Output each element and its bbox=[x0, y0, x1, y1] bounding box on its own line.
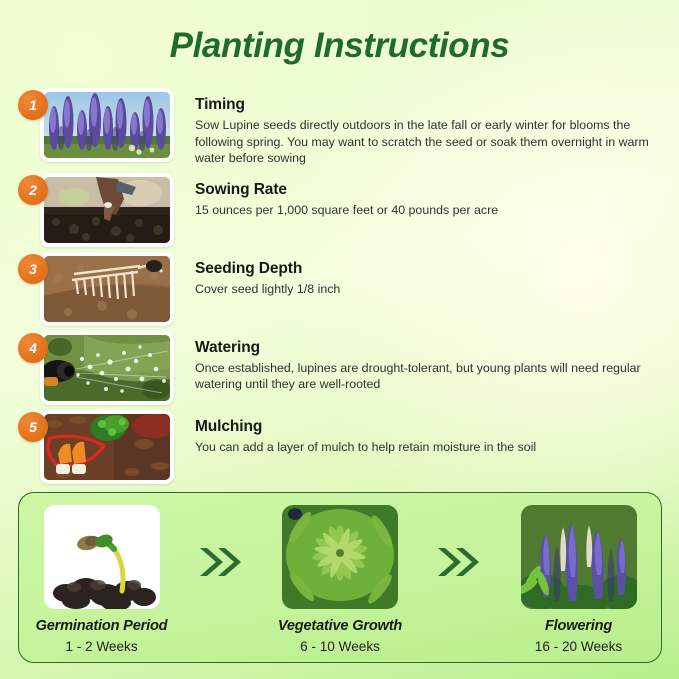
step-number-badge: 4 bbox=[18, 333, 48, 363]
step-heading: Sowing Rate bbox=[195, 181, 679, 199]
step-thumbnail-frame: 3 bbox=[40, 252, 174, 326]
step-body: You can add a layer of mulch to help ret… bbox=[195, 439, 665, 456]
step-thumbnail-frame: 4 bbox=[40, 331, 174, 405]
step-body: 15 ounces per 1,000 square feet or 40 po… bbox=[195, 202, 665, 219]
step-item-timing: 1 bbox=[0, 88, 679, 167]
step-body: Sow Lupine seeds directly outdoors in th… bbox=[195, 117, 665, 167]
rake-on-soil-photo bbox=[44, 256, 170, 322]
hand-sowing-seed-in-soil-photo bbox=[44, 177, 170, 243]
timeline-stage-duration: 16 - 20 Weeks bbox=[496, 639, 661, 654]
step-text-block: Watering Once established, lupines are d… bbox=[174, 331, 679, 393]
step-thumbnail-frame: 5 bbox=[40, 410, 174, 484]
step-item-watering: 4 bbox=[0, 331, 679, 405]
step-text-block: Seeding Depth Cover seed lightly 1/8 inc… bbox=[174, 252, 679, 298]
step-item-seeding-depth: 3 bbox=[0, 252, 679, 326]
step-number-badge: 2 bbox=[18, 175, 48, 205]
step-thumbnail-frame: 1 bbox=[40, 88, 174, 162]
step-heading: Watering bbox=[195, 339, 679, 357]
step-heading: Mulching bbox=[195, 418, 679, 436]
purple-lupine-blooms-photo bbox=[521, 505, 637, 609]
step-heading: Timing bbox=[195, 96, 679, 114]
timeline-stage-label: Vegetative Growth bbox=[258, 618, 423, 634]
step-text-block: Timing Sow Lupine seeds directly outdoor… bbox=[174, 88, 679, 167]
step-number-badge: 1 bbox=[18, 90, 48, 120]
timeline-stage-label: Germination Period bbox=[19, 618, 184, 634]
timeline-stage-duration: 6 - 10 Weeks bbox=[258, 639, 423, 654]
step-thumbnail-frame: 2 bbox=[40, 173, 174, 247]
timeline-stage-label: Flowering bbox=[496, 618, 661, 634]
step-number-badge: 5 bbox=[18, 412, 48, 442]
lupine-green-foliage-photo bbox=[282, 505, 398, 609]
page-title: Planting Instructions bbox=[0, 26, 679, 66]
step-body: Once established, lupines are drought-to… bbox=[195, 360, 665, 393]
step-number-badge: 3 bbox=[18, 254, 48, 284]
sprouting-seedling-photo bbox=[44, 505, 160, 609]
timeline-stage-germination: Germination Period 1 - 2 Weeks bbox=[19, 493, 184, 654]
hose-sprayer-watering-photo bbox=[44, 335, 170, 401]
gloved-hands-spreading-mulch-photo bbox=[44, 414, 170, 480]
timeline-stage-vegetative-growth: Vegetative Growth 6 - 10 Weeks bbox=[258, 493, 423, 654]
step-item-sowing-rate: 2 bbox=[0, 173, 679, 247]
step-heading: Seeding Depth bbox=[195, 260, 679, 278]
step-item-mulching: 5 bbox=[0, 410, 679, 484]
step-text-block: Mulching You can add a layer of mulch to… bbox=[174, 410, 679, 456]
step-text-block: Sowing Rate 15 ounces per 1,000 square f… bbox=[174, 173, 679, 219]
timeline-stage-flowering: Flowering 16 - 20 Weeks bbox=[496, 493, 661, 654]
lupine-flower-field-photo bbox=[44, 92, 170, 158]
double-chevron-right-icon bbox=[184, 493, 258, 618]
growth-timeline-panel: Germination Period 1 - 2 Weeks bbox=[18, 492, 662, 663]
timeline-stage-duration: 1 - 2 Weeks bbox=[19, 639, 184, 654]
planting-instructions-infographic: Planting Instructions 1 bbox=[0, 0, 679, 679]
steps-list: 1 bbox=[0, 88, 679, 484]
double-chevron-right-icon bbox=[423, 493, 497, 618]
step-body: Cover seed lightly 1/8 inch bbox=[195, 281, 665, 298]
